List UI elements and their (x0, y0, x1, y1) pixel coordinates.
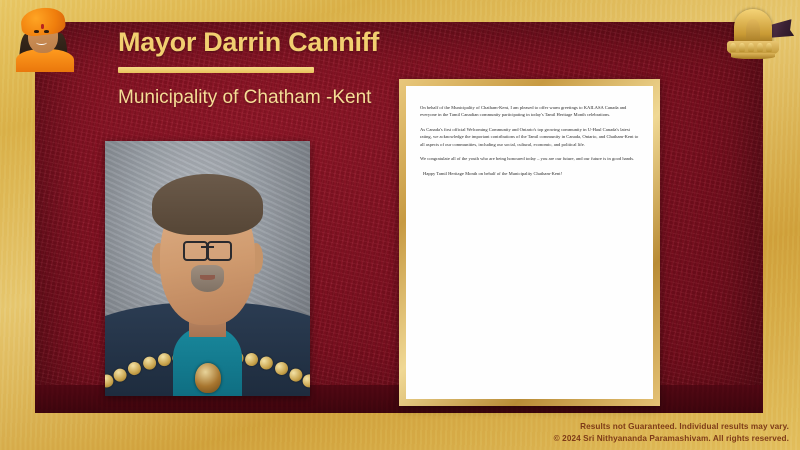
deity-lamp (757, 43, 763, 52)
swami-tilak-icon (41, 24, 44, 29)
swami-eye-right (44, 30, 49, 33)
deity-steps (731, 53, 775, 59)
presentation-slide: Mayor Darrin Canniff Municipality of Cha… (0, 0, 800, 450)
portrait-mouth (200, 275, 215, 280)
mayoral-medal-icon (195, 363, 221, 393)
mayor-portrait-photo (105, 141, 310, 396)
greeting-letter-document: On behalf of the Municipality of Chatham… (406, 86, 653, 399)
letter-paragraph: As Canada's first official Welcoming Com… (420, 126, 639, 148)
eyeglasses-icon (183, 241, 232, 257)
deity-lamp (766, 43, 772, 52)
deity-lamp (730, 43, 736, 52)
portrait-hair (152, 174, 263, 235)
page-subtitle: Municipality of Chatham -Kent (118, 86, 386, 111)
glasses-bridge (201, 246, 214, 248)
letter-paragraph: On behalf of the Municipality of Chatham… (420, 104, 639, 119)
swami-portrait-icon (14, 0, 76, 72)
letter-paragraph: Happy Tamil Heritage Month on behalf of … (420, 170, 639, 177)
letter-paragraph: We congratulate all of the youth who are… (420, 155, 639, 162)
footer-disclaimer: Results not Guaranteed. Individual resul… (554, 421, 789, 445)
lens-right (207, 241, 232, 261)
deity-emblem-icon (723, 3, 791, 69)
letter-gold-frame: On behalf of the Municipality of Chatham… (399, 79, 660, 406)
title-underline-rule (118, 67, 314, 73)
swami-eye-left (34, 30, 39, 33)
footer-line-1: Results not Guaranteed. Individual resul… (554, 421, 789, 433)
deity-lamp (748, 43, 754, 52)
deity-figure (746, 19, 760, 43)
page-title: Mayor Darrin Canniff (118, 28, 538, 58)
footer-line-2: © 2024 Sri Nithyananda Paramashivam. All… (554, 433, 789, 445)
swami-smile (36, 40, 47, 45)
lens-left (183, 241, 208, 261)
deity-lamp (739, 43, 745, 52)
